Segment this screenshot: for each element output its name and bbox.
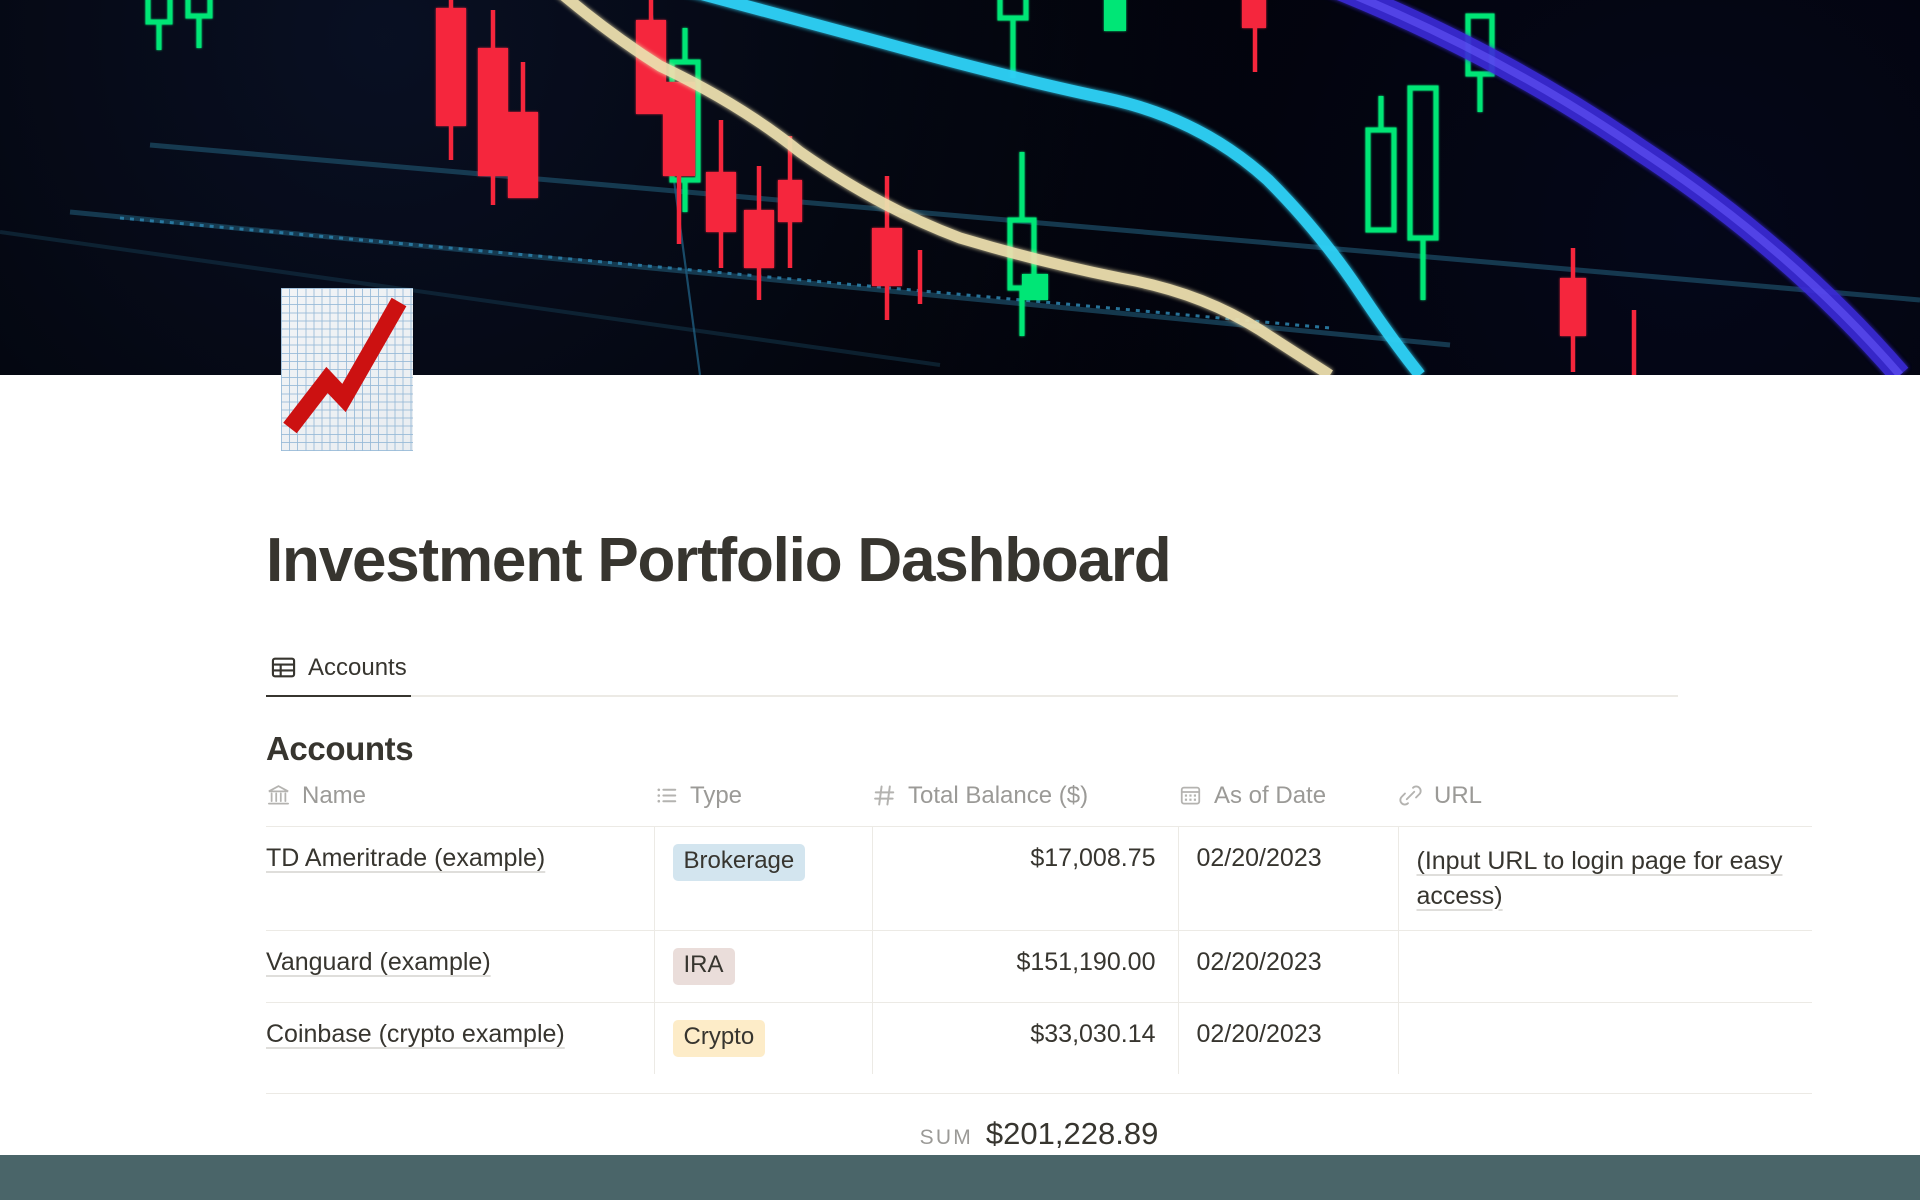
table-header: Name (266, 783, 1812, 827)
table-body: TD Ameritrade (example) Brokerage $17,00… (266, 827, 1812, 1074)
hash-icon (872, 783, 897, 808)
accounts-table: Name (266, 783, 1812, 1074)
sum-value: $201,228.89 (986, 1116, 1158, 1152)
account-name-link[interactable]: Coinbase (crypto example) (266, 1020, 565, 1048)
table-row[interactable]: Coinbase (crypto example) Crypto $33,030… (266, 1002, 1812, 1073)
column-header-name-label: Name (302, 784, 366, 808)
cell-type[interactable]: Brokerage (654, 827, 872, 931)
table-row[interactable]: Vanguard (example) IRA $151,190.00 02/20… (266, 931, 1812, 1003)
column-header-url-label: URL (1434, 784, 1482, 808)
column-header-type-label: Type (690, 784, 742, 808)
cell-name[interactable]: Vanguard (example) (266, 931, 654, 1003)
cell-type[interactable]: IRA (654, 931, 872, 1003)
column-header-total-balance-label: Total Balance ($) (908, 784, 1088, 808)
calendar-icon (1178, 783, 1203, 808)
bottom-bar (0, 1155, 1920, 1200)
cell-total-balance[interactable]: $17,008.75 (872, 827, 1178, 931)
cell-as-of-date[interactable]: 02/20/2023 (1178, 1002, 1398, 1073)
tab-accounts[interactable]: Accounts (266, 654, 411, 697)
link-icon (1398, 783, 1423, 808)
cell-as-of-date[interactable]: 02/20/2023 (1178, 931, 1398, 1003)
table-row[interactable]: TD Ameritrade (example) Brokerage $17,00… (266, 827, 1812, 931)
table-summary-row[interactable]: SUM $201,228.89 (266, 1093, 1812, 1152)
cell-total-balance[interactable]: $33,030.14 (872, 1002, 1178, 1073)
cell-as-of-date[interactable]: 02/20/2023 (1178, 827, 1398, 931)
column-header-type[interactable]: Type (654, 783, 872, 827)
column-header-as-of-date[interactable]: As of Date (1178, 783, 1398, 827)
cell-type[interactable]: Crypto (654, 1002, 872, 1073)
list-icon (654, 783, 679, 808)
cell-url[interactable]: (Input URL to login page for easy access… (1398, 827, 1812, 931)
accounts-table-scroll[interactable]: Name (266, 783, 1812, 1093)
account-name-link[interactable]: Vanguard (example) (266, 948, 491, 976)
column-header-url[interactable]: URL (1398, 783, 1812, 827)
url-link[interactable]: (Input URL to login page for easy access… (1417, 847, 1783, 910)
cell-name[interactable]: TD Ameritrade (example) (266, 827, 654, 931)
column-header-name[interactable]: Name (266, 783, 654, 827)
type-tag: Crypto (673, 1020, 766, 1057)
notion-page: Investment Portfolio Dashboard Accounts … (0, 0, 1920, 1200)
type-tag: IRA (673, 948, 735, 985)
cell-url[interactable] (1398, 1002, 1812, 1073)
cell-url[interactable] (1398, 931, 1812, 1003)
sum-label: SUM (920, 1126, 973, 1150)
table-header-row: Name (266, 783, 1812, 827)
page-title: Investment Portfolio Dashboard (266, 525, 1826, 597)
type-tag: Brokerage (673, 844, 806, 881)
cell-name[interactable]: Coinbase (crypto example) (266, 1002, 654, 1073)
cell-total-balance[interactable]: $151,190.00 (872, 931, 1178, 1003)
column-header-as-of-date-label: As of Date (1214, 784, 1326, 808)
table-icon (270, 654, 297, 681)
icon-trend-line (281, 288, 413, 451)
section-title: Accounts (266, 730, 413, 768)
tab-bar: Accounts (266, 654, 1678, 697)
tab-accounts-label: Accounts (308, 656, 407, 680)
chart-increasing-icon[interactable] (281, 288, 413, 451)
bank-icon (266, 783, 291, 808)
account-name-link[interactable]: TD Ameritrade (example) (266, 844, 545, 872)
column-header-total-balance[interactable]: Total Balance ($) (872, 783, 1178, 827)
